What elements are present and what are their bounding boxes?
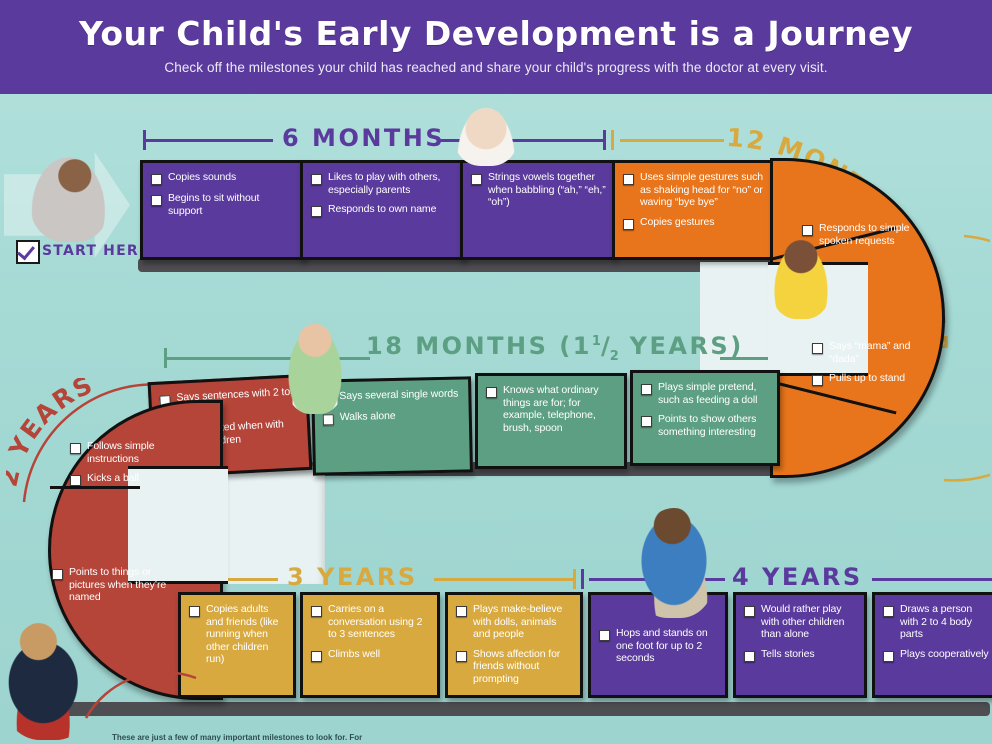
panel-4-years-3[interactable]: Draws a person with 2 to 4 body parts Pl… [872, 592, 992, 698]
panel-items: Strings vowels together when babbling (“… [471, 171, 606, 216]
photo-boy-blue-shirt-blocks [632, 508, 716, 618]
list-item[interactable]: Plays make-believe with dolls, animals a… [456, 603, 574, 641]
list-item[interactable]: Shows affection for friends without prom… [456, 648, 574, 686]
panel-4-years-2[interactable]: Would rather play with other children th… [733, 592, 867, 698]
list-item[interactable]: Begins to sit without support [151, 192, 296, 217]
list-item[interactable]: Copies sounds [151, 171, 296, 185]
milestone-text: Draws a person with 2 to 4 body parts [900, 603, 991, 641]
panel-items: Says several single words Walks alone [322, 388, 463, 433]
milestone-text: Likes to play with others, especially pa… [328, 171, 456, 196]
rule-cap-3-years-right [573, 569, 576, 589]
panel-items: Carries on a conversation using 2 to 3 s… [311, 603, 431, 669]
curve-12-months [930, 230, 990, 490]
milestone-text: Walks alone [340, 410, 396, 424]
milestone-text: Copies adults and friends (like running … [206, 603, 287, 666]
checkbox-icon[interactable] [311, 206, 322, 217]
panel-12-months-3[interactable]: Says “mama” and “dada” Pulls up to stand [812, 340, 930, 420]
list-item[interactable]: Responds to simple spoken requests [802, 222, 922, 247]
milestone-text: Begins to sit without support [168, 192, 296, 217]
rule-cap-18-months-left [164, 348, 167, 368]
panel-items: Would rather play with other children th… [744, 603, 858, 669]
milestone-text: Points to show others something interest… [658, 413, 771, 438]
list-item[interactable]: Carries on a conversation using 2 to 3 s… [311, 603, 431, 641]
panel-2-years-3[interactable]: Points to things or pictures when they’r… [52, 566, 170, 626]
rule-cap-6-months-left [143, 130, 146, 150]
milestone-text: Climbs well [328, 648, 380, 661]
checkbox-icon[interactable] [70, 443, 81, 454]
checkbox-icon[interactable] [311, 651, 322, 662]
panel-2-years-2[interactable]: Follows simple instructions Kicks a ball [70, 440, 190, 496]
section-label-18-months: 18 MONTHS (1 1/2 YEARS) [366, 332, 744, 364]
infographic-page: Your Child's Early Development is a Jour… [0, 0, 992, 744]
panel-3-years-3[interactable]: Plays make-believe with dolls, animals a… [445, 592, 583, 698]
checkbox-icon[interactable] [744, 606, 755, 617]
milestone-text: Plays simple pretend, such as feeding a … [658, 381, 771, 406]
checkbox-icon[interactable] [52, 569, 63, 580]
checkbox-icon[interactable] [311, 606, 322, 617]
checkbox-icon[interactable] [70, 475, 81, 486]
panel-18-months-2[interactable]: Knows what ordinary things are for; for … [475, 373, 627, 469]
milestone-text: Points to things or pictures when they’r… [69, 566, 170, 604]
milestone-text: Would rather play with other children th… [761, 603, 858, 641]
rule-4-years-right [872, 578, 992, 581]
checkbox-icon[interactable] [189, 606, 200, 617]
list-item[interactable]: Follows simple instructions [70, 440, 190, 465]
list-item[interactable]: Copies adults and friends (like running … [189, 603, 287, 666]
milestone-text: Says “mama” and “dada” [829, 340, 930, 365]
list-item[interactable]: Would rather play with other children th… [744, 603, 858, 641]
panel-18-months-3[interactable]: Plays simple pretend, such as feeding a … [630, 370, 780, 466]
milestone-text: Plays cooperatively [900, 648, 989, 661]
checkbox-icon[interactable] [323, 414, 334, 425]
checkbox-icon[interactable] [641, 416, 652, 427]
panel-12-months-1[interactable]: Uses simple gestures such as shaking hea… [612, 160, 777, 260]
list-item[interactable]: Says “mama” and “dada” [812, 340, 930, 365]
milestone-text: Copies sounds [168, 171, 236, 184]
curve-3-years-left [80, 660, 210, 730]
label-18-tail: YEARS) [619, 332, 744, 360]
panel-items: Plays simple pretend, such as feeding a … [641, 381, 771, 445]
list-item[interactable]: Draws a person with 2 to 4 body parts [883, 603, 991, 641]
milestone-text: Pulls up to stand [829, 372, 905, 385]
list-item[interactable]: Responds to own name [311, 203, 456, 217]
milestone-text: Uses simple gestures such as shaking hea… [640, 171, 768, 209]
checkbox-icon[interactable] [623, 219, 634, 230]
checkbox-icon[interactable] [802, 225, 813, 236]
footnote-text: These are just a few of many important m… [112, 733, 672, 744]
checkbox-icon[interactable] [641, 384, 652, 395]
milestone-text: Says several single words [339, 388, 458, 403]
checkbox-icon[interactable] [883, 606, 894, 617]
list-item[interactable]: Pulls up to stand [812, 372, 930, 386]
milestone-text: Hops and stands on one foot for up to 2 … [616, 627, 719, 665]
panel-items: Plays make-believe with dolls, animals a… [456, 603, 574, 693]
checkbox-icon[interactable] [744, 651, 755, 662]
list-item[interactable]: Kicks a ball [70, 472, 190, 486]
checkbox-icon[interactable] [812, 343, 823, 354]
checkbox-icon[interactable] [883, 651, 894, 662]
list-item[interactable]: Plays cooperatively [883, 648, 991, 662]
list-item[interactable]: Uses simple gestures such as shaking hea… [623, 171, 768, 209]
section-label-4-years: 4 YEARS [732, 563, 863, 591]
list-item[interactable]: Copies gestures [623, 216, 768, 230]
rule-12-months-left [620, 139, 724, 142]
label-18-frac-den: 2 [610, 349, 619, 364]
checkbox-icon[interactable] [486, 387, 497, 398]
section-label-3-years: 3 YEARS [287, 563, 418, 591]
list-item[interactable]: Likes to play with others, especially pa… [311, 171, 456, 196]
panel-items: Likes to play with others, especially pa… [311, 171, 456, 224]
checkbox-icon[interactable] [623, 174, 634, 185]
list-item[interactable]: Climbs well [311, 648, 431, 662]
rule-6-months-left [143, 139, 273, 142]
milestone-text: Follows simple instructions [87, 440, 190, 465]
checkbox-icon[interactable] [812, 375, 823, 386]
header-banner: Your Child's Early Development is a Jour… [0, 0, 992, 94]
milestone-text: Copies gestures [640, 216, 714, 229]
road-shadow-top [138, 258, 778, 272]
panel-6-months-3[interactable]: Strings vowels together when babbling (“… [460, 160, 615, 260]
label-18-frac-num: 1 [592, 334, 601, 349]
list-item[interactable]: Tells stories [744, 648, 858, 662]
rule-cap-12-months-left [611, 130, 614, 150]
page-title: Your Child's Early Development is a Jour… [0, 14, 992, 54]
checkbox-icon[interactable] [599, 630, 610, 641]
panel-6-months-2[interactable]: Likes to play with others, especially pa… [300, 160, 465, 260]
list-item[interactable]: Strings vowels together when babbling (“… [471, 171, 606, 209]
checkbox-icon[interactable] [456, 651, 467, 662]
list-item[interactable]: Points to show others something interest… [641, 413, 771, 438]
checkbox-icon[interactable] [471, 174, 482, 185]
label-18-main: 18 MONTHS (1 [366, 332, 592, 360]
panel-items: Draws a person with 2 to 4 body parts Pl… [883, 603, 991, 669]
rule-3-years-right [434, 578, 574, 581]
milestone-text: Tells stories [761, 648, 815, 661]
page-subtitle: Check off the milestones your child has … [0, 60, 992, 75]
section-label-6-months: 6 MONTHS [282, 124, 445, 152]
panel-6-months-1[interactable]: Copies sounds Begins to sit without supp… [140, 160, 305, 260]
checkbox-icon[interactable] [311, 174, 322, 185]
panel-items: Uses simple gestures such as shaking hea… [623, 171, 768, 237]
start-here-checkbox[interactable] [16, 240, 40, 264]
checkbox-icon[interactable] [456, 606, 467, 617]
list-item[interactable]: Knows what ordinary things are for; for … [486, 384, 618, 434]
list-item[interactable]: Plays simple pretend, such as feeding a … [641, 381, 771, 406]
rule-cap-6-months-right [603, 130, 606, 150]
milestone-text: Responds to simple spoken requests [819, 222, 922, 247]
milestone-text: Shows affection for friends without prom… [473, 648, 574, 686]
milestone-text: Carries on a conversation using 2 to 3 s… [328, 603, 431, 641]
milestone-text: Kicks a ball [87, 472, 139, 485]
list-item[interactable]: Points to things or pictures when they’r… [52, 566, 170, 604]
start-here-label: START HERE [42, 243, 150, 259]
milestone-text: Knows what ordinary things are for; for … [503, 384, 618, 434]
checkbox-icon[interactable] [151, 174, 162, 185]
photo-peekaboo-baby [455, 104, 517, 166]
panel-items: Hops and stands on one foot for up to 2 … [599, 627, 719, 672]
panel-3-years-2[interactable]: Carries on a conversation using 2 to 3 s… [300, 592, 440, 698]
milestone-text: Strings vowels together when babbling (“… [488, 171, 606, 209]
panel-items: Knows what ordinary things are for; for … [486, 384, 618, 441]
list-item[interactable]: Walks alone [323, 409, 463, 426]
rule-cap-4-years-left [581, 569, 584, 589]
checkbox-icon[interactable] [151, 195, 162, 206]
milestone-text: Responds to own name [328, 203, 436, 216]
list-item[interactable]: Hops and stands on one foot for up to 2 … [599, 627, 719, 665]
panel-items: Copies sounds Begins to sit without supp… [151, 171, 296, 224]
milestone-text: Plays make-believe with dolls, animals a… [473, 603, 574, 641]
photo-toddler-green-shirt [284, 322, 346, 414]
